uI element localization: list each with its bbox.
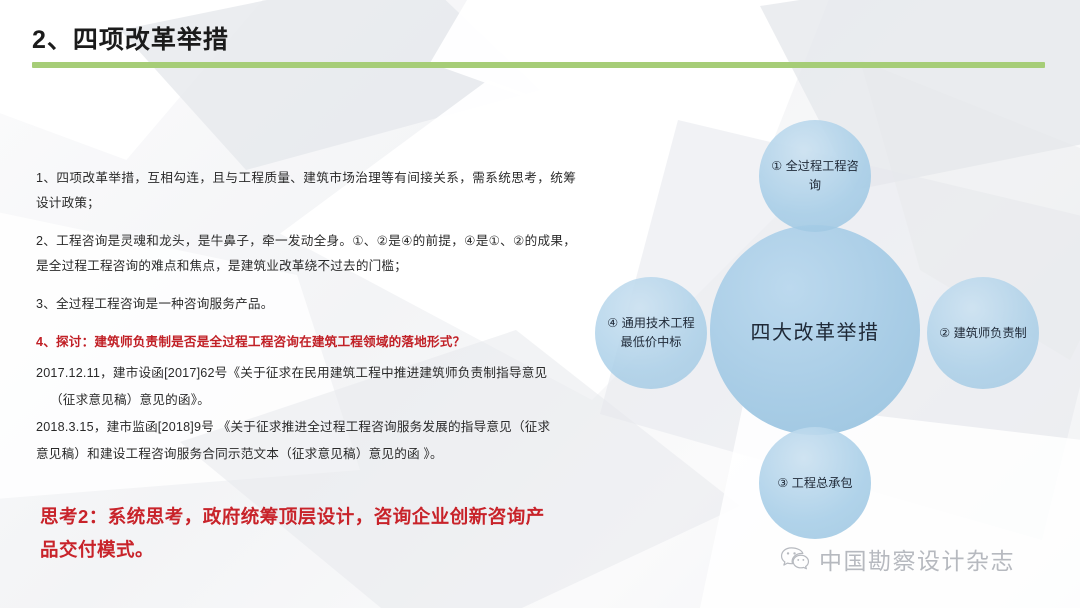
reference-2018-line2: 意见稿）和建设工程咨询服务合同示范文本（征求意见稿）意见的函 》。 bbox=[36, 442, 576, 467]
diagram-satellite-3: ③ 工程总承包 bbox=[759, 427, 871, 539]
slide-header: 2、四项改革举措 bbox=[0, 0, 1080, 80]
diagram-satellite-4: ④ 通用技术工程最低价中标 bbox=[595, 277, 707, 389]
diagram-satellite-1-label: ① 全过程工程咨询 bbox=[759, 157, 871, 195]
watermark-text: 中国勘察设计杂志 bbox=[819, 542, 1015, 576]
diagram-center-label: 四大改革举措 bbox=[751, 316, 880, 345]
four-measures-diagram: 四大改革举措 ① 全过程工程咨询 ② 建筑师负责制 ③ 工程总承包 ④ 通用技术… bbox=[600, 100, 1060, 540]
conclusion-callout: 思考2：系统思考，政府统筹顶层设计，咨询企业创新咨询产品交付模式。 bbox=[40, 500, 560, 566]
diagram-satellite-1: ① 全过程工程咨询 bbox=[759, 120, 871, 232]
paragraph-2: 2、工程咨询是灵魂和龙头，是牛鼻子，牵一发动全身。①、②是④的前提，④是①、②的… bbox=[36, 229, 576, 279]
slide-canvas: 2、四项改革举措 1、四项改革举措，互相勾连，且与工程质量、建筑市场治理等有间接… bbox=[0, 0, 1080, 608]
wechat-icon bbox=[780, 546, 810, 572]
title-underline-rule bbox=[32, 62, 1045, 68]
diagram-center-circle: 四大改革举措 bbox=[710, 225, 920, 435]
diagram-satellite-4-label: ④ 通用技术工程最低价中标 bbox=[595, 314, 707, 352]
paragraph-1: 1、四项改革举措，互相勾连，且与工程质量、建筑市场治理等有间接关系，需系统思考，… bbox=[36, 166, 576, 216]
diagram-satellite-3-label: ③ 工程总承包 bbox=[769, 474, 860, 493]
reference-2018-line1: 2018.3.15，建市监函[2018]9号 《关于征求推进全过程工程咨询服务发… bbox=[36, 415, 576, 440]
reference-2017-line2: （征求意见稿）意见的函》。 bbox=[36, 388, 576, 413]
page-title: 2、四项改革举措 bbox=[32, 20, 229, 56]
diagram-satellite-2: ② 建筑师负责制 bbox=[927, 277, 1039, 389]
diagram-satellite-2-label: ② 建筑师负责制 bbox=[931, 324, 1034, 343]
reference-2017-line1: 2017.12.11，建市设函[2017]62号《关于征求在民用建筑工程中推进建… bbox=[36, 361, 576, 386]
paragraph-4-highlight: 4、探讨：建筑师负责制是否是全过程工程咨询在建筑工程领域的落地形式？ bbox=[36, 330, 576, 355]
watermark: 中国勘察设计杂志 bbox=[780, 542, 1015, 576]
paragraph-3: 3、全过程工程咨询是一种咨询服务产品。 bbox=[36, 292, 576, 317]
body-text-column: 1、四项改革举措，互相勾连，且与工程质量、建筑市场治理等有间接关系，需系统思考，… bbox=[36, 166, 576, 469]
